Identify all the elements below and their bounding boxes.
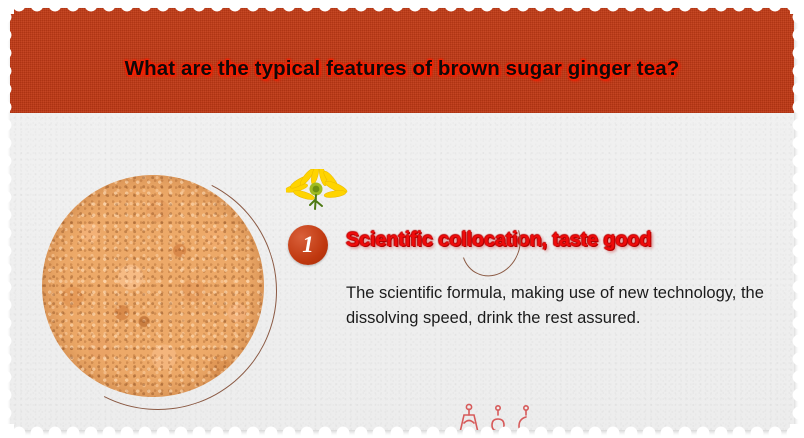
- feature-description: The scientific formula, making use of ne…: [346, 281, 766, 331]
- corner-top-left: [0, 0, 14, 14]
- page-title: What are the typical features of brown s…: [10, 57, 794, 81]
- corner-bottom-left: [0, 424, 14, 438]
- feature-block: 1 Scientific collocation, taste good The…: [280, 209, 774, 331]
- feature-number-label: 1: [288, 225, 328, 265]
- page-header: What are the typical features of brown s…: [10, 8, 794, 113]
- supermarket-watermark: SuperMarket: [450, 401, 560, 430]
- page-body: 1 Scientific collocation, taste good The…: [10, 113, 794, 430]
- photo-accent-arc-icon: [10, 141, 308, 430]
- feature-number-badge: 1: [288, 225, 328, 265]
- corner-top-right: [790, 0, 804, 14]
- product-photo: [42, 175, 264, 397]
- yellow-daisy-icon: [286, 169, 348, 213]
- supermarket-logo-icon: [450, 401, 560, 430]
- stamp-card: What are the typical features of brown s…: [0, 0, 804, 438]
- corner-bottom-right: [790, 424, 804, 438]
- feature-heading-row: 1 Scientific collocation, taste good: [280, 209, 774, 267]
